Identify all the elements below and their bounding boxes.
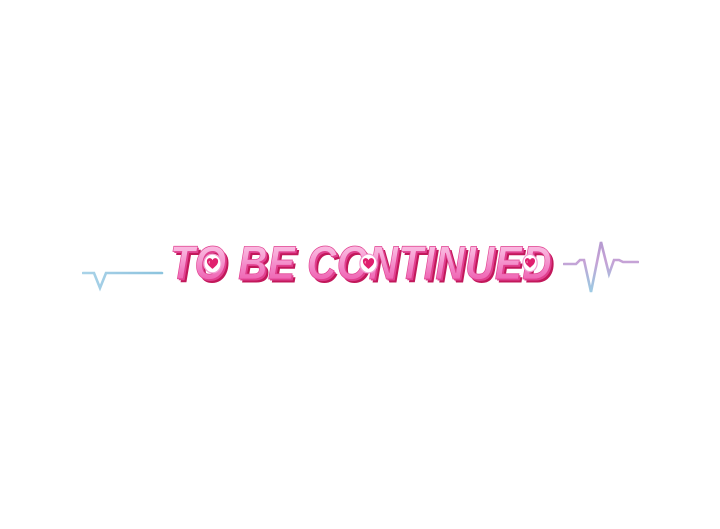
ekg-line-right-icon: [563, 234, 639, 298]
ekg-line-left-icon: [82, 238, 164, 294]
to-be-continued-banner: TO BE CONTINUED: [0, 228, 720, 304]
heart-icon: [522, 254, 536, 271]
wordmark: TO BE CONTINUED: [170, 238, 556, 294]
heart-icon: [359, 254, 376, 273]
canvas: TO BE CONTINUED: [0, 0, 720, 529]
heart-icon: [203, 254, 220, 273]
to-be-continued-text: TO BE CONTINUED: [170, 238, 556, 292]
